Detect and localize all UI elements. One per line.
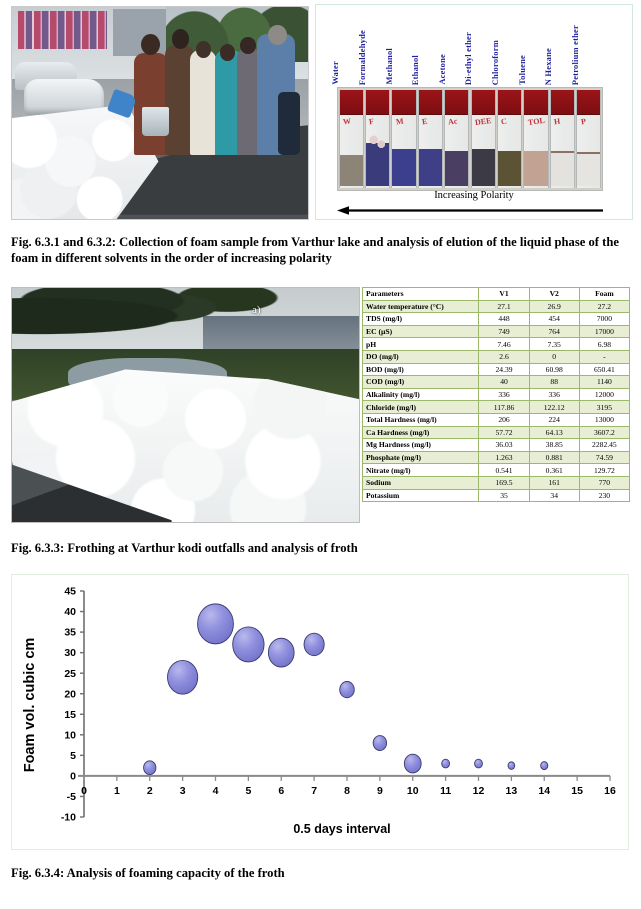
cell-v1: 2.6 — [479, 350, 529, 363]
increasing-polarity-arrow-icon — [337, 206, 603, 215]
vial-handwritten-mark: DEE — [474, 116, 492, 127]
vial-liquid — [472, 149, 495, 186]
vial-handwritten-mark: E — [421, 117, 428, 127]
cell-v2: 0.361 — [529, 464, 579, 477]
vial-cap-icon — [392, 90, 415, 115]
cell-v1: 117.86 — [479, 401, 529, 414]
top-figure-row: Water Formaldehyde Methanol Ethanol Acet… — [0, 0, 641, 224]
cell-v2: 0.881 — [529, 451, 579, 464]
chart-bubble-point — [340, 681, 355, 697]
cell-parameter: Total Hardness (mg/l) — [363, 413, 479, 426]
cell-foam: 74.59 — [579, 451, 629, 464]
vial-handwritten-mark: C — [501, 117, 508, 127]
cell-foam: 230 — [579, 489, 629, 502]
cell-foam: - — [579, 350, 629, 363]
chart-x-tick-label: 1 — [114, 785, 120, 797]
vial-handwritten-mark: W — [342, 117, 351, 127]
chart-x-axis-label: 0.5 days interval — [293, 822, 390, 836]
chart-bubble-point — [304, 633, 324, 656]
column-header-v2: V2 — [529, 288, 579, 301]
cell-parameter: Nitrate (mg/l) — [363, 464, 479, 477]
cell-foam: 3195 — [579, 401, 629, 414]
chart-x-tick-label: 16 — [604, 785, 616, 797]
table-header-row: Parameters V1 V2 Foam — [363, 288, 630, 301]
vial-precipitate — [368, 131, 387, 153]
vial-liquid — [340, 155, 363, 186]
chart-y-tick-label: 35 — [64, 627, 76, 639]
vial-liquid — [524, 151, 547, 186]
column-header-parameters: Parameters — [363, 288, 479, 301]
vial-liquid — [498, 151, 521, 186]
figure-caption-2: Fig. 6.3.3: Frothing at Varthur kodi out… — [11, 541, 629, 556]
chart-bubble-point — [268, 638, 294, 667]
vial-cap-icon — [577, 90, 600, 115]
chart-x-tick-label: 12 — [473, 785, 485, 797]
chart-x-tick-label: 11 — [440, 785, 451, 797]
water-quality-table: Parameters V1 V2 Foam Water temperature … — [362, 287, 630, 502]
chart-x-tick-label: 8 — [344, 785, 350, 797]
cell-v2: 64.13 — [529, 426, 579, 439]
solvent-label-row: Water Formaldehyde Methanol Ethanol Acet… — [324, 7, 624, 85]
cell-parameter: EC (µS) — [363, 325, 479, 338]
chart-x-tick-label: 14 — [538, 785, 550, 797]
chart-bubble-point — [198, 604, 234, 644]
solvent-label-di-ethyl-ether: Di-ethyl ether — [463, 32, 473, 85]
cell-foam: 770 — [579, 476, 629, 489]
chart-y-tick-label: -10 — [61, 812, 76, 824]
cell-v2: 34 — [529, 489, 579, 502]
table-row: Total Hardness (mg/l)20622413000 — [363, 413, 630, 426]
photo-foam-collection — [11, 6, 309, 220]
vial-handwritten-mark: F — [369, 117, 375, 127]
cell-foam: 3607.2 — [579, 426, 629, 439]
figure-caption-1: Fig. 6.3.1 and 6.3.2: Collection of foam… — [11, 234, 629, 266]
cell-foam: 2282.45 — [579, 439, 629, 452]
solvent-label-water: Water — [330, 61, 340, 85]
chart-x-tick-label: 4 — [213, 785, 219, 797]
chart-y-tick-label: 5 — [70, 750, 76, 762]
cell-v1: 0.541 — [479, 464, 529, 477]
table-row: Ca Hardness (mg/l)57.7264.133607.2 — [363, 426, 630, 439]
table-row: Potassium3534230 — [363, 489, 630, 502]
chart-y-tick-label: 10 — [64, 729, 76, 741]
chart-x-tick-label: 7 — [311, 785, 317, 797]
chart-y-tick-label: 0 — [70, 771, 76, 783]
vial-liquid — [445, 151, 468, 186]
table-row: Water temperature (°C)27.126.927.2 — [363, 300, 630, 313]
cell-v1: 336 — [479, 388, 529, 401]
table-row: Nitrate (mg/l)0.5410.361129.72 — [363, 464, 630, 477]
cell-v2: 764 — [529, 325, 579, 338]
vial-handwritten-mark: P — [580, 117, 586, 127]
cell-v2: 7.35 — [529, 338, 579, 351]
chart-x-tick-label: 5 — [245, 785, 251, 797]
cell-v1: 36.03 — [479, 439, 529, 452]
cell-foam: 17000 — [579, 325, 629, 338]
chart-y-tick-label: 15 — [64, 709, 76, 721]
vial-cap-icon — [340, 90, 363, 115]
cell-v2: 336 — [529, 388, 579, 401]
chart-y-tick-label: 25 — [64, 668, 76, 680]
vial-cap-icon — [551, 90, 574, 115]
chart-x-tick-label: 15 — [571, 785, 583, 797]
cell-v2: 454 — [529, 313, 579, 326]
cell-foam: 12000 — [579, 388, 629, 401]
solvent-elution-panel: Water Formaldehyde Methanol Ethanol Acet… — [315, 4, 633, 220]
vial-n-hexane: H — [550, 90, 575, 188]
chart-canvas: -10-5051015202530354045 0123456789101112… — [12, 575, 628, 849]
table-row: Alkalinity (mg/l)33633612000 — [363, 388, 630, 401]
chart-x-tick-label: 9 — [377, 785, 383, 797]
chart-bubble-point — [475, 759, 483, 768]
cell-v1: 35 — [479, 489, 529, 502]
vial-cap-icon — [366, 90, 389, 115]
cell-v2: 224 — [529, 413, 579, 426]
table-row: EC (µS)74976417000 — [363, 325, 630, 338]
table-row: TDS (mg/l)4484547000 — [363, 313, 630, 326]
chart-x-tick-label: 3 — [180, 785, 186, 797]
cell-parameter: COD (mg/l) — [363, 376, 479, 389]
vial-petrolium-ether: P — [576, 90, 601, 188]
vial-cap-icon — [472, 90, 495, 115]
chart-bubble-point — [442, 759, 450, 768]
chart-bubble-point — [541, 762, 548, 770]
polarity-label: Increasing Polarity — [316, 190, 632, 201]
photo-vial-rack: W F M E Ac — [337, 87, 603, 191]
cell-v1: 7.46 — [479, 338, 529, 351]
cell-foam: 129.72 — [579, 464, 629, 477]
cell-v1: 27.1 — [479, 300, 529, 313]
table-row: Sodium169.5161770 — [363, 476, 630, 489]
chart-x-tick-label: 0 — [81, 785, 87, 797]
cell-v1: 1.263 — [479, 451, 529, 464]
vial-chloroform: C — [497, 90, 522, 188]
chart-x-tick-label: 13 — [506, 785, 518, 797]
vial-handwritten-mark: Ac — [448, 117, 458, 127]
cell-parameter: Alkalinity (mg/l) — [363, 388, 479, 401]
cell-foam: 7000 — [579, 313, 629, 326]
chart-bubble-point — [233, 627, 264, 662]
foaming-capacity-bubble-chart: -10-5051015202530354045 0123456789101112… — [11, 574, 629, 850]
chart-bubble-point — [508, 762, 515, 770]
photo-frothing-outfall: a) — [11, 287, 360, 523]
chart-y-tick-label: 45 — [64, 586, 76, 598]
cell-parameter: Ca Hardness (mg/l) — [363, 426, 479, 439]
vial-cap-icon — [419, 90, 442, 115]
cell-v1: 206 — [479, 413, 529, 426]
figure-caption-3: Fig. 6.3.4: Analysis of foaming capacity… — [11, 866, 629, 881]
cell-foam: 1140 — [579, 376, 629, 389]
cell-v2: 88 — [529, 376, 579, 389]
cell-v2: 38.85 — [529, 439, 579, 452]
cell-parameter: Phosphate (mg/l) — [363, 451, 479, 464]
cell-parameter: BOD (mg/l) — [363, 363, 479, 376]
cell-v1: 749 — [479, 325, 529, 338]
table-row: Phosphate (mg/l)1.2630.88174.59 — [363, 451, 630, 464]
cell-v2: 60.98 — [529, 363, 579, 376]
column-header-v1: V1 — [479, 288, 529, 301]
cell-v1: 40 — [479, 376, 529, 389]
chart-bubble-point — [168, 660, 198, 694]
cell-parameter: DO (mg/l) — [363, 350, 479, 363]
vial-liquid — [577, 152, 600, 186]
chart-bubble-point — [144, 761, 156, 775]
solvent-label-petrolium-ether: Petrolium ether — [570, 25, 580, 85]
solvent-label-formaldehyde: Formaldehyde — [357, 30, 367, 85]
chart-bubble-series — [144, 604, 548, 775]
photo-billboard — [18, 11, 107, 49]
table-row: Mg Hardness (mg/l)36.0338.852282.45 — [363, 439, 630, 452]
chart-x-tick-label: 2 — [147, 785, 153, 797]
cell-v1: 24.39 — [479, 363, 529, 376]
table-row: BOD (mg/l)24.3960.98650.41 — [363, 363, 630, 376]
solvent-label-methanol: Methanol — [384, 48, 394, 85]
table-row: DO (mg/l)2.60- — [363, 350, 630, 363]
table-row: Chloride (mg/l)117.86122.123195 — [363, 401, 630, 414]
chart-y-axis-label: Foam vol. cubic cm — [22, 638, 38, 773]
cell-parameter: Water temperature (°C) — [363, 300, 479, 313]
column-header-foam: Foam — [579, 288, 629, 301]
cell-parameter: Potassium — [363, 489, 479, 502]
solvent-label-acetone: Acetone — [437, 54, 447, 85]
chart-y-tick-label: -5 — [67, 791, 76, 803]
vial-liquid — [551, 151, 574, 186]
cell-v2: 0 — [529, 350, 579, 363]
cell-parameter: pH — [363, 338, 479, 351]
vial-handwritten-mark: H — [553, 117, 560, 127]
cell-v1: 169.5 — [479, 476, 529, 489]
cell-foam: 6.98 — [579, 338, 629, 351]
solvent-label-toluene: Toluene — [517, 55, 527, 85]
chart-y-tick-label: 30 — [64, 647, 76, 659]
cell-v2: 122.12 — [529, 401, 579, 414]
vial-cap-icon — [524, 90, 547, 115]
vial-di-ethyl-ether: DEE — [471, 90, 496, 188]
solvent-label-chloroform: Chloroform — [490, 40, 500, 85]
cell-v1: 448 — [479, 313, 529, 326]
vial-methanol: M — [391, 90, 416, 188]
cell-v2: 161 — [529, 476, 579, 489]
chart-y-tick-label: 20 — [64, 688, 76, 700]
cell-v2: 26.9 — [529, 300, 579, 313]
vial-handwritten-mark: TOL — [527, 116, 545, 127]
cell-foam: 13000 — [579, 413, 629, 426]
vial-water: W — [339, 90, 364, 188]
cell-foam: 27.2 — [579, 300, 629, 313]
photo-tree-canopy — [12, 288, 359, 358]
vial-liquid — [392, 149, 415, 186]
solvent-label-n-hexane: N Hexane — [543, 48, 553, 85]
chart-bubble-point — [404, 754, 421, 773]
cell-parameter: Chloride (mg/l) — [363, 401, 479, 414]
cell-v1: 57.72 — [479, 426, 529, 439]
table-row: pH7.467.356.98 — [363, 338, 630, 351]
chart-x-tick-label: 6 — [278, 785, 284, 797]
chart-y-tick-label: 40 — [64, 606, 76, 618]
vial-liquid — [419, 149, 442, 186]
cell-parameter: Sodium — [363, 476, 479, 489]
vial-toluene: TOL — [523, 90, 548, 188]
chart-x-tick-label: 10 — [407, 785, 419, 797]
cell-parameter: Mg Hardness (mg/l) — [363, 439, 479, 452]
solvent-label-ethanol: Ethanol — [410, 55, 420, 85]
vial-formaldehyde: F — [365, 90, 390, 188]
cell-foam: 650.41 — [579, 363, 629, 376]
photo-sample-bucket — [142, 107, 169, 137]
table-row: COD (mg/l)40881140 — [363, 376, 630, 389]
chart-x-axis: 012345678910111213141516 — [78, 776, 616, 797]
cell-parameter: TDS (mg/l) — [363, 313, 479, 326]
vial-acetone: Ac — [444, 90, 469, 188]
vial-ethanol: E — [418, 90, 443, 188]
photo-inset-label-a: a) — [252, 304, 261, 316]
vial-cap-icon — [498, 90, 521, 115]
chart-bubble-point — [373, 736, 386, 751]
vial-cap-icon — [445, 90, 468, 115]
vial-handwritten-mark: M — [395, 117, 404, 127]
table-body: Water temperature (°C)27.126.927.2TDS (m… — [363, 300, 630, 502]
